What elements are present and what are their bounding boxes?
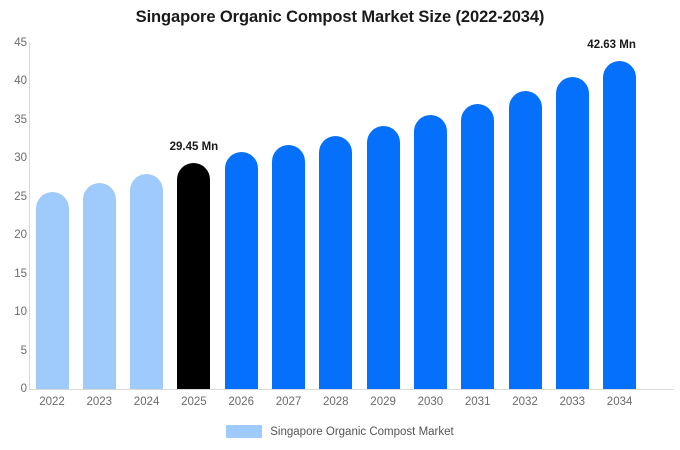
legend-label: Singapore Organic Compost Market	[270, 426, 453, 438]
bars-layer: 2022202320242025202620272028202920302031…	[0, 0, 680, 450]
x-axis-tick-label-2034: 2034	[590, 396, 650, 408]
bar-2022[interactable]	[36, 192, 69, 389]
bar-2033[interactable]	[556, 77, 589, 389]
bar-2032[interactable]	[509, 91, 542, 389]
bar-2027[interactable]	[272, 145, 305, 389]
bar-2025[interactable]	[177, 163, 210, 389]
legend-swatch-icon	[226, 425, 262, 438]
bar-2029[interactable]	[367, 126, 400, 389]
bar-2023[interactable]	[83, 183, 116, 389]
bar-2034[interactable]	[603, 61, 636, 389]
bar-2030[interactable]	[414, 115, 447, 389]
bar-2026[interactable]	[225, 152, 258, 389]
chart-container: Singapore Organic Compost Market Size (2…	[0, 0, 680, 450]
data-label-2025: 29.45 Mn	[149, 141, 239, 153]
bar-2028[interactable]	[319, 136, 352, 389]
bar-2024[interactable]	[130, 174, 163, 389]
chart-legend: Singapore Organic Compost Market	[0, 425, 680, 438]
bar-2031[interactable]	[461, 104, 494, 389]
data-label-2034: 42.63 Mn	[567, 39, 657, 51]
